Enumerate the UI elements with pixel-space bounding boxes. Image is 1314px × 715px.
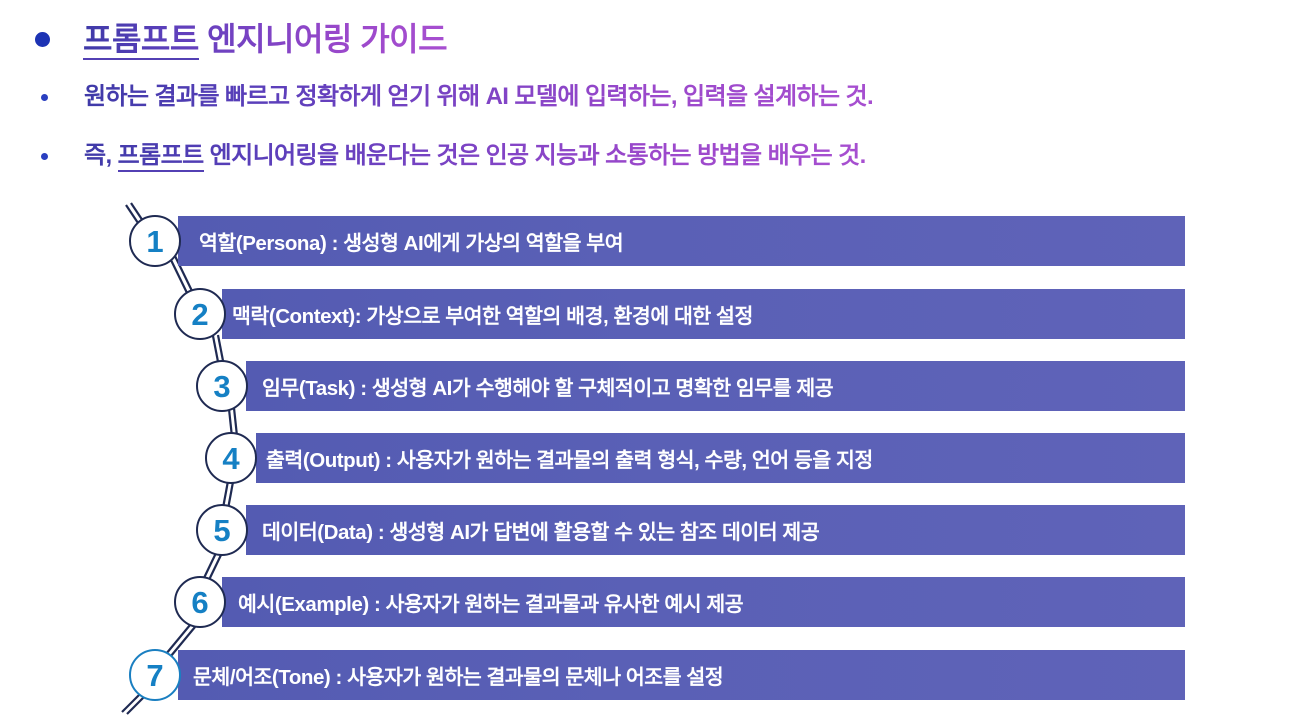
step-bar: 데이터(Data) : 생성형 AI가 답변에 활용할 수 있는 참조 데이터 …	[246, 505, 1185, 555]
step-number: 5	[213, 515, 230, 546]
step-number-circle: 1	[129, 215, 181, 267]
step-number: 2	[191, 299, 208, 330]
step-number-circle: 4	[205, 432, 257, 484]
step-bar: 예시(Example) : 사용자가 원하는 결과물과 유사한 예시 제공	[222, 577, 1185, 627]
step-number: 1	[146, 226, 163, 257]
step-label: 맥락(Context): 가상으로 부여한 역할의 배경, 환경에 대한 설정	[232, 299, 753, 329]
step-bar: 맥락(Context): 가상으로 부여한 역할의 배경, 환경에 대한 설정	[222, 289, 1185, 339]
step-number: 4	[222, 443, 239, 474]
step-bar: 역할(Persona) : 생성형 AI에게 가상의 역할을 부여	[178, 216, 1185, 266]
step-number-circle: 5	[196, 504, 248, 556]
step-label: 역할(Persona) : 생성형 AI에게 가상의 역할을 부여	[199, 226, 623, 256]
step-number: 6	[191, 587, 208, 618]
step-label: 출력(Output) : 사용자가 원하는 결과물의 출력 형식, 수량, 언어…	[266, 443, 873, 473]
step-number: 7	[146, 660, 163, 691]
step-label: 임무(Task) : 생성형 AI가 수행해야 할 구체적이고 명확한 임무를 …	[262, 371, 833, 401]
step-number-circle: 6	[174, 576, 226, 628]
step-bar: 문체/어조(Tone) : 사용자가 원하는 결과물의 문체나 어조를 설정	[178, 650, 1185, 700]
step-number: 3	[213, 371, 230, 402]
steps-flow-diagram: 역할(Persona) : 생성형 AI에게 가상의 역할을 부여1맥락(Con…	[0, 0, 1314, 715]
step-number-circle: 2	[174, 288, 226, 340]
step-bar: 임무(Task) : 생성형 AI가 수행해야 할 구체적이고 명확한 임무를 …	[246, 361, 1185, 411]
step-label: 예시(Example) : 사용자가 원하는 결과물과 유사한 예시 제공	[238, 587, 743, 617]
step-label: 데이터(Data) : 생성형 AI가 답변에 활용할 수 있는 참조 데이터 …	[262, 515, 819, 545]
step-number-circle: 7	[129, 649, 181, 701]
step-bar: 출력(Output) : 사용자가 원하는 결과물의 출력 형식, 수량, 언어…	[256, 433, 1185, 483]
step-number-circle: 3	[196, 360, 248, 412]
slide-canvas: 프롬프트 엔지니어링 가이드 원하는 결과를 빠르고 정확하게 얻기 위해 AI…	[0, 0, 1314, 715]
step-label: 문체/어조(Tone) : 사용자가 원하는 결과물의 문체나 어조를 설정	[193, 660, 723, 690]
